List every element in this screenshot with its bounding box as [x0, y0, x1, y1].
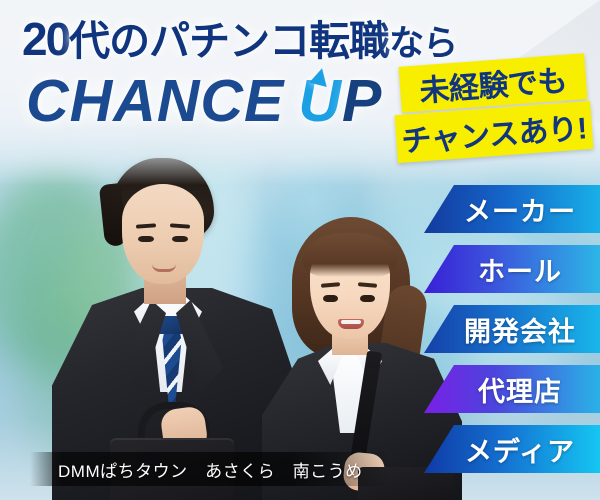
headline-lead: 代のパチンコ転職 — [69, 18, 389, 64]
chance-up-recruitment-banner[interactable]: 20代のパチンコ転職なら CHANCEUP 未経験でも チャンスあり! メーカー… — [0, 0, 600, 500]
category-tag-maker[interactable]: メーカー — [424, 185, 600, 233]
female-eye-right — [360, 295, 375, 302]
category-tag-label: ホール — [478, 250, 562, 289]
callout-ribbon-text: 未経験でも — [418, 56, 568, 111]
female-bangs — [302, 233, 398, 277]
category-tag-hall[interactable]: ホール — [424, 245, 600, 293]
page-title: 20代のパチンコ転職なら — [22, 16, 457, 62]
category-tag-agency[interactable]: 代理店 — [424, 365, 600, 413]
male-face — [122, 184, 204, 284]
caption-text: DMMぱちタウン あさくら 南こうめ — [58, 457, 363, 482]
male-mouth — [152, 264, 176, 272]
category-tag-label: 代理店 — [478, 370, 562, 409]
category-tag-label: 開発会社 — [464, 310, 576, 349]
logo-word-up: UP — [298, 72, 382, 131]
female-eye-left — [323, 295, 338, 302]
chance-up-logo: CHANCEUP — [26, 72, 382, 131]
male-eye-left — [138, 236, 154, 242]
male-eyebrow-right — [170, 223, 190, 228]
caption-strip: DMMぱちタウン あさくら 南こうめ — [30, 452, 390, 486]
category-tag-label: メーカー — [464, 190, 576, 229]
female-mouth — [338, 319, 364, 329]
category-tag-media[interactable]: メディア — [424, 425, 600, 473]
category-tag-development-company[interactable]: 開発会社 — [424, 305, 600, 353]
logo-word-chance: CHANCE — [26, 68, 284, 134]
headline-tail: なら — [389, 24, 457, 63]
headline-number: 20 — [22, 13, 69, 65]
female-eyebrow-left — [321, 282, 340, 288]
logo-letter-p: P — [342, 68, 382, 134]
male-eyebrow-left — [136, 223, 156, 228]
female-eyebrow-right — [358, 282, 377, 288]
male-eye-right — [172, 236, 188, 242]
category-tag-label: メディア — [465, 430, 575, 469]
